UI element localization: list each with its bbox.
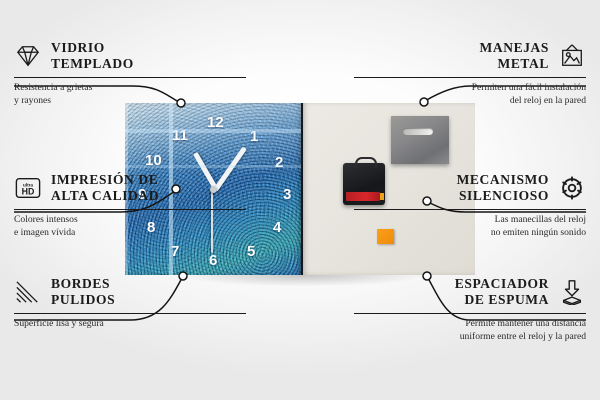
feature-vidrio-templado: VIDRIO TEMPLADO Resistencia a grietas y …: [14, 40, 246, 108]
clock-numeral-7: 7: [171, 244, 179, 259]
feature-manejas-metal: MANEJAS METAL Permiten una fácil instala…: [354, 40, 586, 108]
clock-numeral-2: 2: [275, 155, 283, 170]
feature-desc-line1: Permite mantener una distancia: [354, 318, 586, 331]
feature-desc-line2: uniforme entre el reloj y la pared: [354, 331, 586, 344]
feature-title-line1: IMPRESIÓN DE: [51, 172, 159, 188]
feature-espaciador-espuma: ESPACIADOR DE ESPUMA Permite mantener un…: [354, 276, 586, 344]
feature-rule: [14, 209, 246, 210]
clock-numeral-5: 5: [247, 244, 255, 259]
feature-title-line2: TEMPLADO: [51, 56, 134, 72]
glass-gloss: [125, 103, 301, 175]
feature-title-line1: MANEJAS: [480, 40, 549, 56]
clock-numeral-1: 1: [250, 129, 258, 144]
feature-desc-line1: Las manecillas del reloj: [354, 214, 586, 227]
feature-title-line2: DE ESPUMA: [455, 292, 549, 308]
feature-rule: [354, 209, 586, 210]
clock-numeral-6: 6: [209, 253, 217, 268]
feature-title-line2: PULIDOS: [51, 292, 115, 308]
feature-title-line1: MECANISMO: [457, 172, 549, 188]
gear-icon: [558, 175, 586, 201]
feature-desc-line1: Resistencia a grietas: [14, 82, 246, 95]
feature-desc-line2: del reloj en la pared: [354, 95, 586, 108]
diamond-icon: [14, 43, 42, 69]
metal-hanger-plate: [391, 116, 449, 164]
feature-rule: [354, 77, 586, 78]
feature-rule: [14, 313, 246, 314]
feature-desc-line2: y rayones: [14, 95, 246, 108]
feature-title-line1: VIDRIO: [51, 40, 134, 56]
picture-hanger-icon: [558, 43, 586, 69]
clock-numeral-11: 11: [172, 128, 188, 143]
clock-numeral-10: 10: [145, 153, 162, 168]
feature-desc-line1: Colores intensos: [14, 214, 246, 227]
feature-desc-line2: no emiten ningún sonido: [354, 227, 586, 240]
mechanism-hook: [355, 157, 377, 168]
clock-numeral-3: 3: [283, 187, 291, 202]
clock-numeral-12: 12: [207, 115, 224, 130]
feature-rule: [354, 313, 586, 314]
infographic-canvas: 12 1 2 3 4 5 6 7 8 9 10 11: [0, 0, 600, 400]
feature-title-line2: SILENCIOSO: [457, 188, 549, 204]
feature-desc-line1: Permiten una fácil instalación: [354, 82, 586, 95]
feature-mecanismo-silencioso: MECANISMO SILENCIOSO Las manecillas del …: [354, 172, 586, 240]
foam-spacer-icon: [558, 279, 586, 305]
hanger-slot: [403, 128, 433, 135]
polished-edges-icon: [14, 279, 42, 305]
feature-bordes-pulidos: BORDES PULIDOS Superficie lisa y segura: [14, 276, 246, 331]
feature-impresion-alta-calidad: ultra HD IMPRESIÓN DE ALTA CALIDAD Color…: [14, 172, 246, 240]
feature-rule: [14, 77, 246, 78]
feature-title-line1: ESPACIADOR: [455, 276, 549, 292]
ultra-hd-icon: ultra HD: [14, 175, 42, 201]
clock-numeral-4: 4: [273, 220, 281, 235]
feature-desc-line2: e imagen vívida: [14, 227, 246, 240]
feature-title-line2: ALTA CALIDAD: [51, 188, 159, 204]
feature-title-line2: METAL: [480, 56, 549, 72]
ultra-hd-icon-main-text: HD: [22, 186, 35, 196]
feature-desc-line1: Superficie lisa y segura: [14, 318, 246, 331]
feature-title-line1: BORDES: [51, 276, 115, 292]
